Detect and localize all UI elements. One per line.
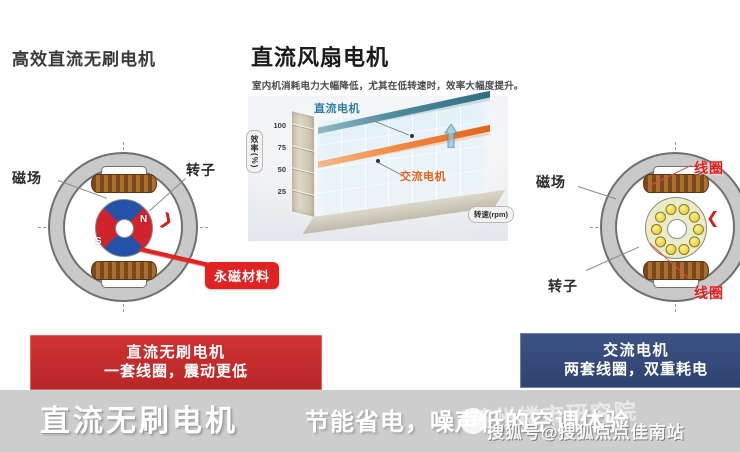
badge-ac-line1: 交流电机 [521,341,740,360]
center-panel-title: 直流风扇电机 [251,40,389,72]
center-panel-subtitle: 室内机消耗电力大幅降低，尤其在低转速时，效率大幅度提升。 [252,78,552,92]
pole-label-n: N [140,214,147,225]
squirrel-cage-rotor [645,197,707,259]
badge-dc-brushless: 直流无刷电机 一套线圈，震动更低 [30,335,322,390]
stator-coil-bottom [91,261,157,280]
stator-coil-bottom [643,261,709,280]
ytick-25: 25 [270,187,286,196]
ytick-50: 50 [270,165,286,174]
ytick-75: 75 [270,143,286,152]
ytick-100: 100 [270,121,286,130]
pole-label-s: S [95,236,102,247]
label-magnetic-field-right: 磁场 [536,172,566,192]
watermark-logo-icon [460,408,486,434]
dc-brushless-motor-diagram: N S ❯ [48,152,198,302]
x-axis-label: 转速(rpm) [468,206,514,223]
series-label-ac: 交流电机 [400,168,446,184]
label-permanent-magnet: 永磁材料 [205,262,279,289]
bottom-headline: 直流无刷电机 [40,396,238,440]
rotor-hub [667,219,687,239]
efficiency-chart: 直流电机 交流电机 100 75 50 25 效率(%) 转速(rpm) [248,96,508,241]
left-panel-title: 高效直流无刷电机 [12,45,156,70]
label-magnetic-field-left: 磁场 [12,168,42,188]
label-coil-bottom-right: 线圈 [694,283,724,303]
badge-dc-line2: 一套线圈，震动更低 [31,362,321,381]
watermark-handle: 搜狐号@搜狐点点佳南站 [487,418,685,443]
badge-ac-motor: 交流电机 两套线圈，双重耗电 [520,333,740,388]
bottom-caption-bar: 直流无刷电机 节能省电，噪声低的空调体验 苏州楼市研究院 搜狐号@搜狐点点佳南站 [0,390,740,452]
rotor-hub [115,219,134,238]
rotation-arrow-icon: ❮ [706,208,719,228]
slide-canvas: 高效直流无刷电机 直流风扇电机 室内机消耗电力大幅降低，尤其在低转速时，效率大幅… [0,0,740,452]
label-rotor-left: 转子 [186,160,216,180]
badge-ac-line2: 两套线圈，双重耗电 [521,360,740,379]
label-rotor-right: 转子 [548,276,578,296]
stator-coil-top [91,174,157,193]
badge-dc-line1: 直流无刷电机 [31,343,321,362]
label-coil-top-right: 线圈 [694,158,724,178]
improvement-arrow-icon [444,124,458,148]
y-axis-label: 效率(%) [246,130,263,173]
series-label-dc: 直流电机 [314,100,360,116]
